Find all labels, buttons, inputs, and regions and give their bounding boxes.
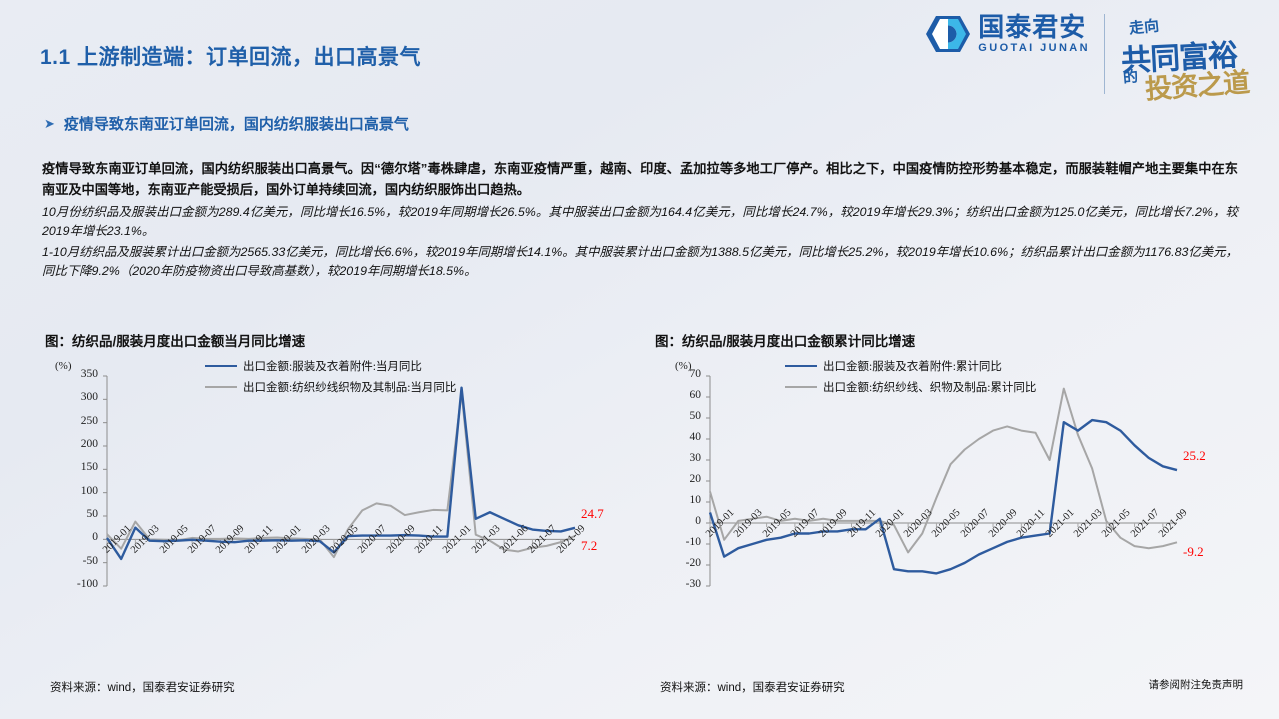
y-axis-tick-label: 250 (52, 415, 98, 427)
y-axis-tick-label: 70 (655, 368, 701, 380)
campaign-calligraphy: 走向 共同富裕 的 投资之道 (1119, 14, 1269, 100)
y-axis-tick-label: -30 (655, 578, 701, 590)
series-end-value-label: 7.2 (581, 538, 597, 554)
series-end-value-label: -9.2 (1183, 544, 1204, 560)
chart-plot-area: -30-20-100102030405060702019-012019-0320… (655, 364, 1255, 664)
bullet-label: 疫情导致东南亚订单回流，国内纺织服装出口高景气 (64, 113, 409, 134)
disclaimer-note: 请参阅附注免责声明 (1149, 677, 1244, 692)
body-paragraph-1: 疫情导致东南亚订单回流，国内纺织服装出口高景气。因“德尔塔”毒株肆虐，东南亚疫情… (42, 158, 1238, 201)
body-text-block: 疫情导致东南亚订单回流，国内纺织服装出口高景气。因“德尔塔”毒株肆虐，东南亚疫情… (42, 158, 1238, 282)
bullet-arrow-icon: ➤ (44, 117, 55, 130)
y-axis-tick-label: -50 (52, 555, 98, 567)
y-axis-tick-label: 40 (655, 431, 701, 443)
y-axis-tick-label: 300 (52, 391, 98, 403)
y-axis-tick-label: 200 (52, 438, 98, 450)
chart-cumulative-yoy: 图：纺织品/服装月度出口金额累计同比增速 (%) 出口金额:服装及衣着附件:累计… (655, 330, 1255, 680)
guotai-junan-mark-icon (925, 14, 971, 54)
y-axis-tick-label: 20 (655, 473, 701, 485)
y-axis-tick-label: 150 (52, 461, 98, 473)
chart-title: 图：纺织品/服装月度出口金额累计同比增速 (655, 330, 1255, 350)
series-line (710, 420, 1177, 573)
brand-logo-block: 国泰君安 GUOTAI JUNAN 走向 共同富裕 的 投资之道 (925, 14, 1269, 100)
page-title: 1.1 上游制造端：订单回流，出口高景气 (40, 41, 421, 71)
series-end-value-label: 24.7 (581, 506, 604, 522)
logo-chinese-name: 国泰君安 (978, 14, 1090, 40)
series-end-value-label: 25.2 (1183, 448, 1206, 464)
y-axis-tick-label: 60 (655, 389, 701, 401)
guotai-junan-logo: 国泰君安 GUOTAI JUNAN (925, 14, 1090, 54)
chart-svg (45, 364, 645, 664)
calligraphy-line-3: 的 (1122, 65, 1139, 87)
source-note-right: 资料来源：wind，国泰君安证券研究 (660, 679, 845, 695)
logo-divider (1104, 14, 1105, 94)
y-axis-tick-label: -100 (52, 578, 98, 590)
y-axis-tick-label: 10 (655, 494, 701, 506)
chart-plot-area: -100-500501001502002503003502019-012019-… (45, 364, 645, 664)
chart-title: 图：纺织品/服装月度出口金额当月同比增速 (45, 330, 645, 350)
y-axis-tick-label: 100 (52, 485, 98, 497)
slide-root: 1.1 上游制造端：订单回流，出口高景气 国泰君安 GUOTAI JUNAN 走… (0, 0, 1279, 719)
source-note-left: 资料来源：wind，国泰君安证券研究 (50, 679, 235, 695)
logo-english-name: GUOTAI JUNAN (978, 43, 1090, 54)
chart-monthly-yoy: 图：纺织品/服装月度出口金额当月同比增速 (%) 出口金额:服装及衣着附件:当月… (45, 330, 645, 680)
y-axis-tick-label: 0 (52, 531, 98, 543)
y-axis-tick-label: 50 (52, 508, 98, 520)
section-bullet: ➤ 疫情导致东南亚订单回流，国内纺织服装出口高景气 (44, 113, 409, 134)
y-axis-tick-label: -10 (655, 536, 701, 548)
y-axis-tick-label: 30 (655, 452, 701, 464)
body-paragraph-2: 10月份纺织品及服装出口金额为289.4亿美元，同比增长16.5%，较2019年… (42, 203, 1238, 241)
y-axis-tick-label: -20 (655, 557, 701, 569)
y-axis-tick-label: 50 (655, 410, 701, 422)
y-axis-tick-label: 0 (655, 515, 701, 527)
calligraphy-line-4: 投资之道 (1144, 60, 1250, 106)
y-axis-tick-label: 350 (52, 368, 98, 380)
body-paragraph-3: 1-10月纺织品及服装累计出口金额为2565.33亿美元，同比增长6.6%，较2… (42, 243, 1238, 281)
